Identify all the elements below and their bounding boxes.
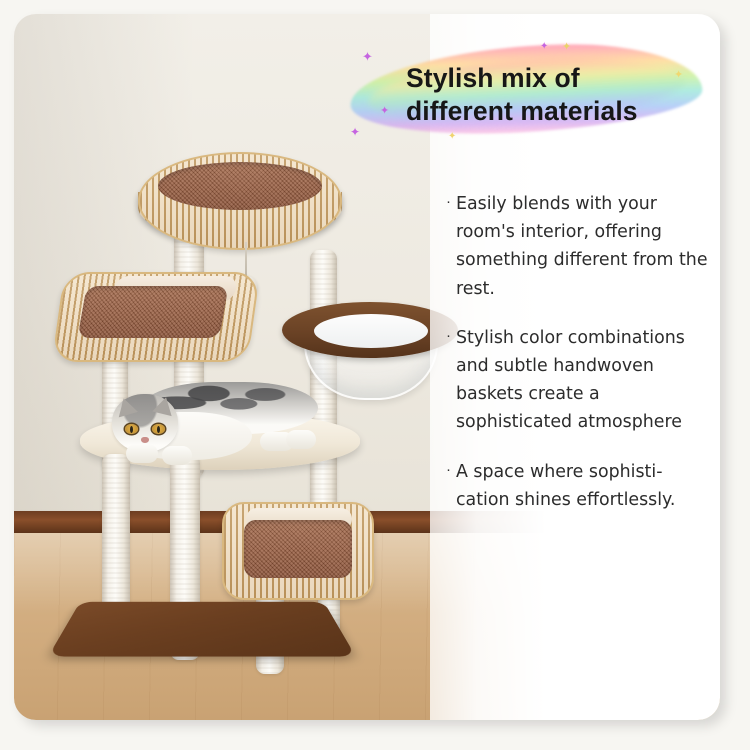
sparkle-icon: ✦	[350, 126, 360, 138]
sparkle-icon: ✦	[540, 42, 548, 52]
cat-nose	[141, 437, 149, 443]
headline-block: ✦ ✦ ✦ ✦ ✦ ✦ ✦ Stylish mix ofdifferent ma…	[344, 40, 720, 158]
bullet-marker-icon: ·	[446, 324, 451, 437]
wooden-base-board	[48, 602, 356, 657]
cat-front-paw-2	[162, 446, 192, 465]
cat-pupil-right	[157, 426, 160, 433]
list-item: · A space where sophisti-cation shines e…	[446, 458, 716, 514]
cat-ear-right	[152, 395, 176, 416]
left-square-basket-platform	[58, 272, 254, 362]
left-platform-woven-mat	[77, 286, 228, 338]
cat-eye-right	[152, 424, 165, 434]
sparkle-icon: ✦	[362, 50, 373, 63]
lower-square-basket-platform	[222, 502, 374, 600]
sparkle-icon: ✦	[562, 42, 571, 53]
bullet-marker-icon: ·	[446, 190, 451, 303]
product-feature-card: ✦ ✦ ✦ ✦ ✦ ✦ ✦ Stylish mix ofdifferent ma…	[14, 14, 720, 720]
headline-line-1: Stylish mix of	[406, 63, 580, 93]
feature-bullet-list: · Easily blends with your room's interio…	[446, 190, 716, 535]
headline-line-2: different materials	[406, 96, 638, 126]
cat-front-paw-1	[126, 444, 158, 463]
screenshot-root: ✦ ✦ ✦ ✦ ✦ ✦ ✦ Stylish mix ofdifferent ma…	[0, 0, 750, 750]
headline-title: Stylish mix ofdifferent materials	[406, 62, 716, 128]
bowl-interior	[314, 314, 428, 348]
sparkle-icon: ✦	[380, 106, 389, 117]
bullet-text: A space where sophisti-cation shines eff…	[456, 458, 716, 514]
bullet-marker-icon: ·	[446, 458, 451, 514]
cat-pupil-left	[130, 426, 133, 433]
bullet-text: Stylish color combinations and subtle ha…	[456, 324, 716, 437]
list-item: · Easily blends with your room's interio…	[446, 190, 716, 303]
bullet-text: Easily blends with your room's interior,…	[456, 190, 716, 303]
list-item: · Stylish color combinations and subtle …	[446, 324, 716, 437]
top-platform-woven-mat	[158, 162, 322, 210]
sparkle-icon: ✦	[448, 132, 456, 142]
lower-platform-woven-mat	[244, 520, 352, 578]
silver-tabby-cat	[110, 382, 320, 472]
top-oval-basket-platform	[138, 152, 342, 250]
cat-ear-left	[114, 396, 138, 418]
cat-eye-left	[125, 424, 138, 434]
cat-hind-paw-2	[286, 430, 316, 449]
